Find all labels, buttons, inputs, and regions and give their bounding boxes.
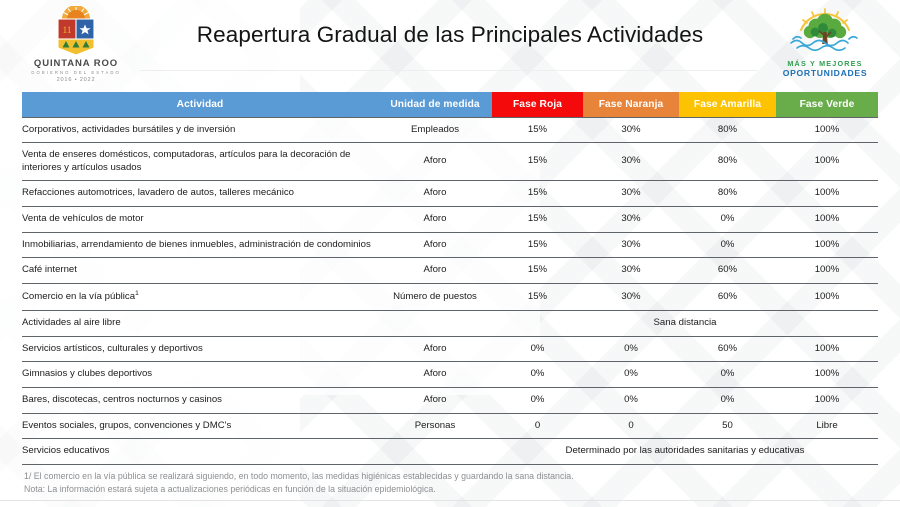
cell-fase-amarilla: 60% [679, 258, 776, 284]
cell-unidad-de-medida: Empleados [378, 117, 492, 143]
column-header-fase-naranja[interactable]: Fase Naranja [583, 92, 679, 117]
table-row[interactable]: Gimnasios y clubes deportivosAforo0%0%0%… [22, 362, 878, 388]
cell-actividad: Refacciones automotrices, lavadero de au… [22, 181, 378, 207]
cell-fase-roja: 15% [492, 258, 583, 284]
slide-page: 11 QUINTANA ROO GOBIERNO DEL ESTADO 2016… [0, 0, 900, 507]
cell-fase-naranja: 0% [583, 336, 679, 362]
cell-fase-verde: Libre [776, 413, 878, 439]
cell-fase-verde: 100% [776, 336, 878, 362]
cell-fase-verde: 100% [776, 387, 878, 413]
cell-fase-naranja: 0% [583, 362, 679, 388]
cell-actividad: Eventos sociales, grupos, convenciones y… [22, 413, 378, 439]
cell-fase-amarilla: 60% [679, 336, 776, 362]
cell-unidad-de-medida: Aforo [378, 336, 492, 362]
cell-fase-roja: 0% [492, 362, 583, 388]
cell-unidad-de-medida [378, 439, 492, 465]
cell-fase-verde: 100% [776, 284, 878, 311]
footnote-note: Nota: La información estará sujeta a act… [24, 483, 724, 496]
quintana-roo-logo-name: QUINTANA ROO [24, 58, 128, 69]
table-row[interactable]: Actividades al aire libreSana distancia [22, 310, 878, 336]
cell-phases-span-note: Determinado por las autoridades sanitari… [492, 439, 878, 465]
cell-fase-verde: 100% [776, 117, 878, 143]
cell-actividad: Inmobiliarias, arrendamiento de bienes i… [22, 232, 378, 258]
cell-fase-amarilla: 80% [679, 181, 776, 207]
table-row[interactable]: Corporativos, actividades bursátiles y d… [22, 117, 878, 143]
column-header-fase-roja[interactable]: Fase Roja [492, 92, 583, 117]
cell-fase-roja: 15% [492, 143, 583, 181]
cell-actividad: Venta de enseres domésticos, computadora… [22, 143, 378, 181]
page-title: Reapertura Gradual de las Principales Ac… [140, 22, 760, 48]
cell-unidad-de-medida: Aforo [378, 258, 492, 284]
cell-fase-verde: 100% [776, 207, 878, 233]
table-header: Actividad Unidad de medida Fase Roja Fas… [22, 92, 878, 117]
reopening-matrix-container: Actividad Unidad de medida Fase Roja Fas… [22, 92, 878, 465]
cell-unidad-de-medida: Número de puestos [378, 284, 492, 311]
footnote-1: 1/ El comercio en la vía pública se real… [24, 470, 724, 483]
cell-unidad-de-medida: Aforo [378, 362, 492, 388]
table-row[interactable]: Comercio en la vía pública1Número de pue… [22, 284, 878, 311]
cell-fase-verde: 100% [776, 143, 878, 181]
svg-text:11: 11 [63, 25, 72, 35]
cell-fase-roja: 15% [492, 181, 583, 207]
table-row[interactable]: Eventos sociales, grupos, convenciones y… [22, 413, 878, 439]
cell-fase-amarilla: 0% [679, 387, 776, 413]
cell-fase-roja: 0% [492, 387, 583, 413]
cell-fase-verde: 100% [776, 181, 878, 207]
reopening-matrix-table: Actividad Unidad de medida Fase Roja Fas… [22, 92, 878, 465]
cell-fase-naranja: 30% [583, 117, 679, 143]
table-row[interactable]: Venta de enseres domésticos, computadora… [22, 143, 878, 181]
quintana-roo-coat-of-arms-icon: 11 [48, 6, 104, 56]
cell-fase-roja: 15% [492, 117, 583, 143]
oportunidades-logo-line1: MÁS Y MEJORES [766, 59, 884, 68]
cell-fase-naranja: 30% [583, 258, 679, 284]
cell-fase-naranja: 0% [583, 387, 679, 413]
table-row[interactable]: Refacciones automotrices, lavadero de au… [22, 181, 878, 207]
quintana-roo-logo-subtitle: GOBIERNO DEL ESTADO [24, 70, 128, 75]
footnotes: 1/ El comercio en la vía pública se real… [24, 470, 724, 497]
table-header-row: Actividad Unidad de medida Fase Roja Fas… [22, 92, 878, 117]
cell-fase-roja: 15% [492, 207, 583, 233]
cell-actividad: Venta de vehículos de motor [22, 207, 378, 233]
table-body: Corporativos, actividades bursátiles y d… [22, 117, 878, 464]
cell-fase-verde: 100% [776, 258, 878, 284]
cell-fase-amarilla: 0% [679, 362, 776, 388]
cell-actividad: Corporativos, actividades bursátiles y d… [22, 117, 378, 143]
cell-fase-roja: 0 [492, 413, 583, 439]
cell-unidad-de-medida: Aforo [378, 232, 492, 258]
cell-actividad: Bares, discotecas, centros nocturnos y c… [22, 387, 378, 413]
table-row[interactable]: Inmobiliarias, arrendamiento de bienes i… [22, 232, 878, 258]
quintana-roo-logo-years: 2016 • 2022 [24, 77, 128, 83]
cell-fase-naranja: 0 [583, 413, 679, 439]
cell-actividad: Servicios educativos [22, 439, 378, 465]
cell-actividad: Gimnasios y clubes deportivos [22, 362, 378, 388]
title-divider [140, 70, 758, 71]
cell-phases-span-note: Sana distancia [492, 310, 878, 336]
cell-fase-naranja: 30% [583, 143, 679, 181]
cell-fase-roja: 15% [492, 284, 583, 311]
cell-actividad: Actividades al aire libre [22, 310, 378, 336]
cell-unidad-de-medida: Aforo [378, 207, 492, 233]
cell-fase-amarilla: 80% [679, 143, 776, 181]
cell-fase-roja: 15% [492, 232, 583, 258]
oportunidades-logo-line2: OPORTUNIDADES [766, 68, 884, 78]
column-header-unidad-de-medida[interactable]: Unidad de medida [378, 92, 492, 117]
cell-fase-amarilla: 0% [679, 207, 776, 233]
cell-unidad-de-medida: Aforo [378, 387, 492, 413]
cell-fase-naranja: 30% [583, 207, 679, 233]
cell-fase-amarilla: 60% [679, 284, 776, 311]
cell-fase-amarilla: 0% [679, 232, 776, 258]
table-row[interactable]: Bares, discotecas, centros nocturnos y c… [22, 387, 878, 413]
cell-unidad-de-medida: Personas [378, 413, 492, 439]
mas-y-mejores-oportunidades-logo: MÁS Y MEJORES OPORTUNIDADES [766, 8, 884, 84]
cell-actividad: Comercio en la vía pública1 [22, 284, 378, 311]
table-row[interactable]: Café internetAforo15%30%60%100% [22, 258, 878, 284]
column-header-fase-verde[interactable]: Fase Verde [776, 92, 878, 117]
table-row[interactable]: Servicios artísticos, culturales y depor… [22, 336, 878, 362]
table-row[interactable]: Venta de vehículos de motorAforo15%30%0%… [22, 207, 878, 233]
cell-unidad-de-medida: Aforo [378, 181, 492, 207]
cell-fase-roja: 0% [492, 336, 583, 362]
column-header-fase-amarilla[interactable]: Fase Amarilla [679, 92, 776, 117]
cell-actividad: Café internet [22, 258, 378, 284]
cell-fase-naranja: 30% [583, 232, 679, 258]
cell-fase-amarilla: 80% [679, 117, 776, 143]
cell-fase-verde: 100% [776, 232, 878, 258]
footnote-marker: 1 [135, 290, 139, 297]
cell-fase-naranja: 30% [583, 181, 679, 207]
tree-over-water-icon [766, 8, 884, 58]
table-row[interactable]: Servicios educativosDeterminado por las … [22, 439, 878, 465]
cell-fase-amarilla: 50 [679, 413, 776, 439]
quintana-roo-logo: 11 QUINTANA ROO GOBIERNO DEL ESTADO 2016… [24, 6, 128, 84]
cell-unidad-de-medida [378, 310, 492, 336]
slide-header: 11 QUINTANA ROO GOBIERNO DEL ESTADO 2016… [0, 0, 900, 88]
cell-unidad-de-medida: Aforo [378, 143, 492, 181]
column-header-actividad[interactable]: Actividad [22, 92, 378, 117]
cell-fase-verde: 100% [776, 362, 878, 388]
cell-actividad: Servicios artísticos, culturales y depor… [22, 336, 378, 362]
bottom-divider [0, 500, 900, 501]
cell-fase-naranja: 30% [583, 284, 679, 311]
